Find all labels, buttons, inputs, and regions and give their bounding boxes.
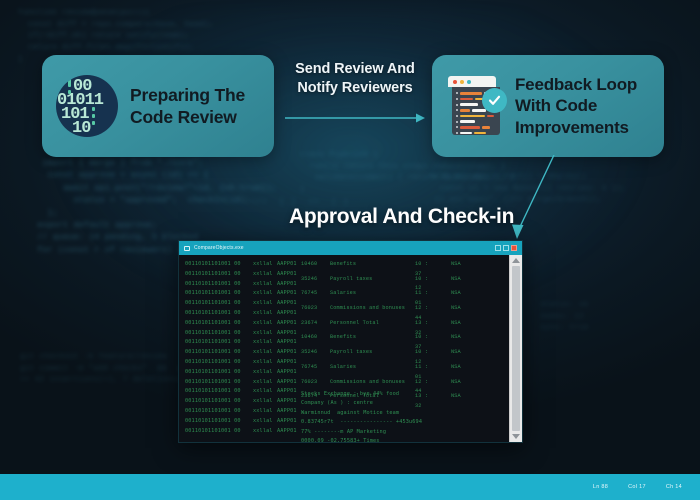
ledger-code: 76745 [301, 289, 323, 299]
binary-dot [92, 121, 95, 125]
maximize-button[interactable] [503, 245, 509, 251]
ledger-tag: NSA [451, 333, 461, 348]
ledger-time: 10 : 37 [415, 333, 437, 348]
ledger-time: 11 : 01 [415, 289, 437, 304]
ledger-code: 23674 [301, 319, 323, 329]
ledger-label: Commissions and bonuses [330, 378, 405, 388]
ledger-label: Payroll taxes [330, 275, 372, 285]
ledger-tag: NSA [451, 289, 461, 304]
code-icon-dot-teal [467, 80, 471, 84]
ledger-row: 76023Commissions and bonuses [301, 304, 405, 319]
scrollbar-thumb[interactable] [512, 266, 520, 431]
ledger-code: 10460 [301, 333, 323, 343]
ledger-list: 10460Benefits35246Payroll taxes76745Sala… [301, 260, 405, 407]
code-icon-dot-yellow [460, 80, 464, 84]
terminal-scrollbar[interactable] [509, 255, 522, 442]
close-button[interactable] [511, 245, 517, 251]
ledger-code: 10460 [301, 260, 323, 270]
ledger-row: 10460Benefits [301, 260, 405, 275]
binary-dot [68, 79, 71, 87]
ledger-meta-row: 10 : 12NSA [415, 275, 461, 290]
binary-column-2: xxllal xxllal xxllal xxllal xxllal xxlla… [253, 260, 273, 436]
ledger-label: Payroll taxes [330, 348, 372, 358]
ledger-time: 12 : 44 [415, 304, 437, 319]
card-1-title: Preparing The Code Review [130, 84, 245, 129]
ledger-code: 76023 [301, 304, 323, 314]
ledger-label: Salaries [330, 289, 356, 299]
ledger-label: Commissions and bonuses [330, 304, 405, 314]
ledger-label: Benefits [330, 260, 356, 270]
ledger-meta-row: 13 : 32NSA [415, 319, 461, 334]
binary-dot [92, 107, 95, 111]
status-col: Col 17 [628, 484, 646, 490]
ledger-tag: NSA [451, 304, 461, 319]
window-controls [495, 245, 519, 251]
ledger-meta-row: 10 : 37NSA [415, 333, 461, 348]
terminal-body: 00110101101001 00 00110101101001 00 0011… [179, 255, 522, 442]
scroll-up-arrow-icon[interactable] [512, 258, 520, 263]
ledger-time: 10 : 12 [415, 348, 437, 363]
check-badge-icon [482, 88, 507, 113]
terminal-window[interactable]: CompareObjects.exe 00110101101001 00 001… [178, 240, 523, 443]
ledger-meta-row: 10 : 12NSA [415, 348, 461, 363]
card-2-title: Feedback Loop With Code Improvements [515, 74, 637, 138]
ledger-tag: NSA [451, 319, 461, 334]
ledger-row: 35246Payroll taxes [301, 275, 405, 290]
arrow-down-icon [506, 155, 562, 241]
ledger-code: 35246 [301, 348, 323, 358]
ledger-code: 35246 [301, 275, 323, 285]
binary-column: 00110101101001 00 00110101101001 00 0011… [185, 260, 241, 436]
ledger-row: 76745Salaries [301, 363, 405, 378]
connector-label: Send Review And Notify Reviewers [282, 60, 428, 98]
ledger-meta-row: 11 : 01NSA [415, 289, 461, 304]
note-block: Stocks Exchange : bye 44% food Company (… [301, 390, 422, 442]
code-icon-titlebar [448, 76, 496, 87]
ledger-row: 35246Payroll taxes [301, 348, 405, 363]
ledger-meta-list: 10 : 37NSA10 : 12NSA11 : 01NSA12 : 44NSA… [415, 260, 461, 407]
status-ln: Ln 88 [593, 484, 608, 490]
ledger-time: 13 : 32 [415, 319, 437, 334]
ledger-row: 23674Personnel Total [301, 319, 405, 334]
ledger-meta-row: 12 : 44NSA [415, 304, 461, 319]
status-bar: Ln 88 Col 17 Ch 14 [0, 474, 700, 500]
ledger-meta-row: 10 : 37NSA [415, 260, 461, 275]
scroll-down-arrow-icon[interactable] [512, 434, 520, 439]
page-heading: Approval And Check-in [289, 205, 514, 229]
ledger-row: 76745Salaries [301, 289, 405, 304]
ledger-code: 76745 [301, 363, 323, 373]
ledger-tag: NSA [451, 378, 461, 393]
ledger-label: Salaries [330, 363, 356, 373]
ledger-tag: NSA [451, 392, 461, 407]
card-feedback-loop-with-code-improvements[interactable]: Feedback Loop With Code Improvements [432, 55, 664, 157]
ledger-meta-row: 11 : 01NSA [415, 363, 461, 378]
ledger-label: Benefits [330, 333, 356, 343]
status-ch: Ch 14 [666, 484, 682, 490]
ledger-time: 10 : 37 [415, 260, 437, 275]
background-code-texture: status: ok nodes: 12 sync: true [540, 300, 589, 335]
ledger-time: 10 : 12 [415, 275, 437, 290]
ledger-tag: NSA [451, 363, 461, 378]
ledger-tag: NSA [451, 260, 461, 275]
ledger-code: 76023 [301, 378, 323, 388]
ledger-tag: NSA [451, 348, 461, 363]
minimize-button[interactable] [495, 245, 501, 251]
ledger-time: 11 : 01 [415, 363, 437, 378]
ledger-row: 10460Benefits [301, 333, 405, 348]
binary-dot [68, 90, 71, 94]
code-icon-dot-red [453, 80, 457, 84]
ledger-label: Personnel Total [330, 319, 379, 329]
card-preparing-the-code-review[interactable]: 00 01011 101 10 Preparing The Code Revie… [42, 55, 274, 157]
terminal-titlebar[interactable]: CompareObjects.exe [179, 241, 522, 255]
terminal-title: CompareObjects.exe [194, 245, 244, 251]
binary-row-4: 10 [72, 119, 90, 137]
binary-column-3: AAPP01 AAPP01 AAPP01 AAPP01 AAPP01 AAPP0… [277, 260, 297, 436]
terminal-content[interactable]: 00110101101001 00 00110101101001 00 0011… [179, 255, 509, 442]
arrow-right-icon [285, 112, 425, 124]
ledger-tag: NSA [451, 275, 461, 290]
binary-circle-icon: 00 01011 101 10 [56, 75, 118, 137]
code-window-check-icon [444, 74, 504, 138]
window-icon [184, 246, 190, 251]
binary-dot [92, 114, 95, 118]
